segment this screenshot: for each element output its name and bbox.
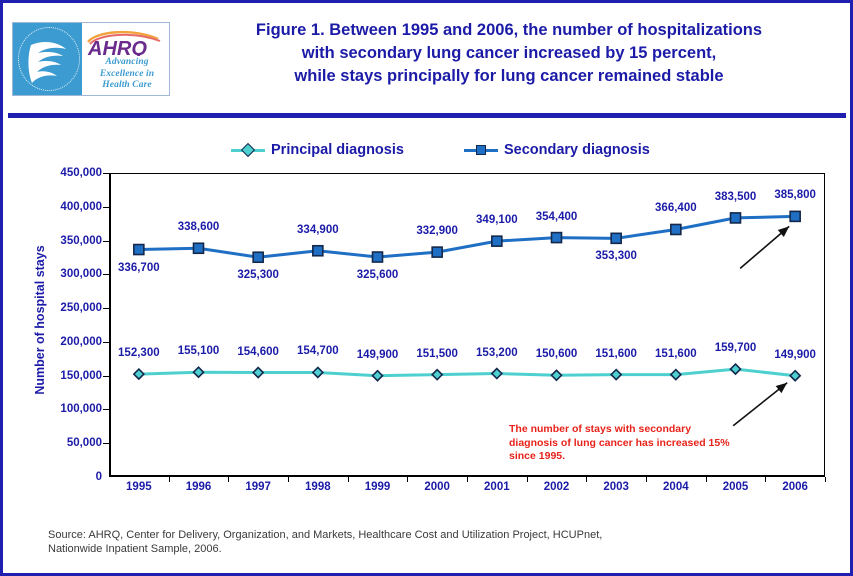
- data-point-label: 149,900: [774, 349, 816, 361]
- header-divider: [8, 113, 846, 118]
- legend-item-principal-diagnosis: Principal diagnosis: [231, 142, 404, 158]
- data-point-label: 385,800: [774, 189, 816, 201]
- data-point-diamond: [373, 371, 383, 381]
- data-point-label: 152,300: [118, 347, 160, 359]
- data-point-square: [194, 243, 204, 253]
- data-point-label: 150,600: [536, 348, 578, 360]
- data-point-square: [790, 211, 800, 221]
- data-point-square: [611, 233, 621, 243]
- ahrq-wordmark-icon: AHRQ: [86, 30, 168, 56]
- data-point-diamond: [790, 371, 800, 381]
- data-point-diamond: [671, 370, 681, 380]
- data-point-square: [731, 213, 741, 223]
- source-line-2: Nationwide Inpatient Sample, 2006.: [48, 542, 748, 556]
- square-marker-icon: [476, 145, 486, 155]
- source-line-1: Source: AHRQ, Center for Delivery, Organ…: [48, 528, 748, 542]
- data-point-square: [492, 236, 502, 246]
- data-point-square: [552, 233, 562, 243]
- legend-label-principal: Principal diagnosis: [271, 142, 404, 158]
- data-point-label: 325,600: [357, 269, 399, 281]
- data-point-square: [373, 252, 383, 262]
- figure-header: AHRQ Advancing Excellence in Health Care…: [3, 3, 850, 110]
- data-point-label: 332,900: [416, 225, 458, 237]
- leader-arrow-secondary: [740, 226, 789, 268]
- data-point-label: 334,900: [297, 224, 339, 236]
- data-point-label: 325,300: [237, 269, 279, 281]
- figure-title-line-3: while stays principally for lung cancer …: [175, 65, 843, 88]
- data-point-diamond: [194, 367, 204, 377]
- data-point-label: 366,400: [655, 202, 697, 214]
- ahrq-logo: AHRQ Advancing Excellence in Health Care: [12, 22, 170, 96]
- legend-label-secondary: Secondary diagnosis: [504, 142, 650, 158]
- data-point-diamond: [731, 364, 741, 374]
- annotation-secondary: The number of stays with secondary diagn…: [509, 423, 739, 464]
- data-point-label: 149,900: [357, 349, 399, 361]
- series-line-secondary: [139, 216, 795, 257]
- data-point-label: 151,600: [595, 348, 637, 360]
- data-point-label: 336,700: [118, 262, 160, 274]
- figure-page: AHRQ Advancing Excellence in Health Care…: [0, 0, 853, 576]
- source-note: Source: AHRQ, Center for Delivery, Organ…: [48, 528, 748, 556]
- legend-swatch-secondary: [464, 143, 498, 157]
- data-point-diamond: [611, 370, 621, 380]
- data-point-label: 353,300: [595, 250, 637, 262]
- figure-title: Figure 1. Between 1995 and 2006, the num…: [175, 19, 843, 88]
- data-point-diamond: [552, 370, 562, 380]
- data-point-square: [134, 245, 144, 255]
- data-point-label: 155,100: [178, 345, 220, 357]
- data-point-square: [253, 252, 263, 262]
- data-point-diamond: [492, 369, 502, 379]
- series-line-principal: [139, 369, 795, 376]
- data-point-diamond: [432, 370, 442, 380]
- data-point-square: [671, 224, 681, 234]
- legend-item-secondary-diagnosis: Secondary diagnosis: [464, 142, 650, 158]
- tagline-line-2: Excellence in: [87, 69, 167, 81]
- data-point-diamond: [134, 369, 144, 379]
- ahrq-logo-right: AHRQ Advancing Excellence in Health Care: [82, 23, 169, 95]
- data-point-label: 159,700: [715, 342, 757, 354]
- data-point-label: 154,600: [237, 346, 279, 358]
- tagline-line-1: Advancing: [87, 57, 167, 69]
- data-point-label: 383,500: [715, 191, 757, 203]
- leader-arrow-principal: [733, 383, 787, 426]
- diamond-marker-icon: [241, 143, 255, 157]
- legend-swatch-principal: [231, 143, 265, 157]
- chart-plot-region: Number of hospital stays 050,000100,0001…: [3, 163, 850, 513]
- tagline-line-3: Health Care: [87, 80, 167, 92]
- data-point-label: 338,600: [178, 221, 220, 233]
- data-point-label: 349,100: [476, 214, 518, 226]
- data-point-label: 153,200: [476, 347, 518, 359]
- figure-title-line-1: Figure 1. Between 1995 and 2006, the num…: [175, 19, 843, 42]
- data-point-label: 151,500: [416, 348, 458, 360]
- data-point-diamond: [313, 367, 323, 377]
- figure-title-line-2: with secondary lung cancer increased by …: [175, 42, 843, 65]
- data-point-diamond: [253, 368, 263, 378]
- svg-text:AHRQ: AHRQ: [87, 38, 147, 56]
- hhs-seal-icon: [13, 23, 82, 95]
- data-point-square: [313, 246, 323, 256]
- data-point-label: 154,700: [297, 345, 339, 357]
- hhs-eagle-icon: [25, 33, 71, 85]
- data-point-square: [432, 247, 442, 257]
- data-point-label: 354,400: [536, 211, 578, 223]
- chart-legend: Principal diagnosis Secondary diagnosis: [231, 139, 641, 161]
- data-point-label: 151,600: [655, 348, 697, 360]
- ahrq-tagline: Advancing Excellence in Health Care: [87, 57, 167, 92]
